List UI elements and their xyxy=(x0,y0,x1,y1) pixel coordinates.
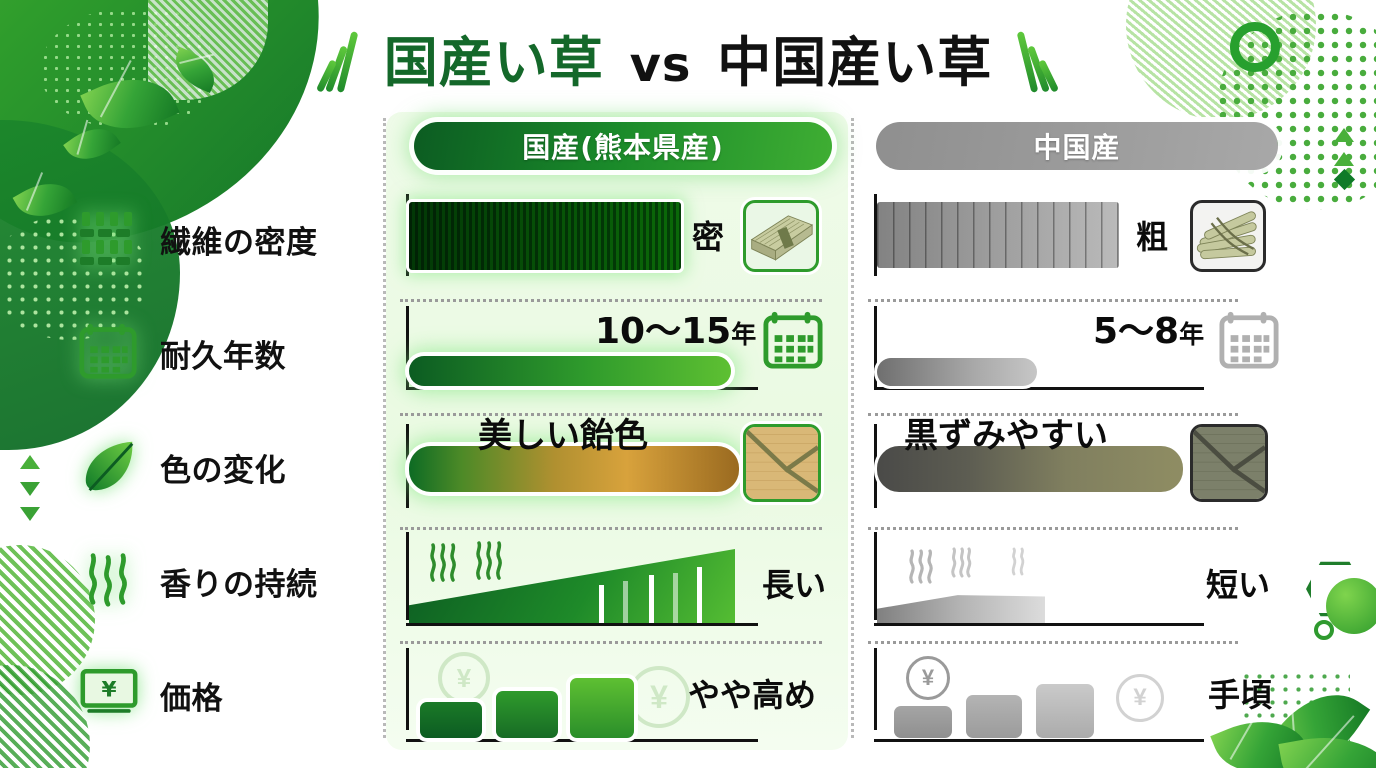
verdict-domestic: 美しい飴色 xyxy=(478,408,648,457)
loose-igusa-bundle-photo xyxy=(1190,200,1266,272)
steam-icon-china-2 xyxy=(948,546,974,578)
steam-icon-china-1 xyxy=(906,548,936,584)
svg-text:¥: ¥ xyxy=(101,678,116,703)
price-bar-china-2 xyxy=(966,695,1022,738)
row-label-fiber-density: 繊維の密度 xyxy=(78,182,378,296)
cell-domestic-fiber-density: 密 xyxy=(400,182,840,296)
title-vs: vs xyxy=(624,37,698,93)
grass-slash-icon-left xyxy=(314,21,370,93)
yen-coin-china-1: ¥ xyxy=(906,656,950,700)
durability-value-domestic: 10〜15年 xyxy=(595,302,756,354)
aroma-icon xyxy=(78,550,142,612)
column-header-china-label: 中国産 xyxy=(1033,126,1120,166)
durability-value-china: 5〜8年 xyxy=(1093,302,1204,354)
page-title: 国産い草 vs 中国産い草 xyxy=(0,18,1376,96)
verdict-domestic: 密 xyxy=(692,212,724,258)
yen-coin-domestic-2: ¥ xyxy=(628,666,690,728)
cell-china-color-change: 黒ずみやすい xyxy=(868,410,1298,524)
row-label-text: 耐久年数 xyxy=(160,331,286,376)
price-bar-domestic-1 xyxy=(420,702,482,738)
title-china: 中国産い草 xyxy=(717,31,992,94)
verdict-china: 黒ずみやすい xyxy=(904,408,1108,457)
table-row: 香りの持続 xyxy=(0,524,1376,638)
column-header-china: 中国産 xyxy=(876,122,1278,170)
title-domestic: 国産い草 xyxy=(384,31,604,94)
amber-tatami-photo xyxy=(743,424,821,502)
price-bar-china-3 xyxy=(1036,684,1094,738)
column-header-domestic: 国産(熊本県産) xyxy=(414,122,832,170)
row-label-text: 色の変化 xyxy=(160,445,286,490)
cell-china-price: ¥ ¥ 手頃 xyxy=(868,638,1298,752)
durability-value-unit: 年 xyxy=(731,320,756,349)
verdict-china: 手頃 xyxy=(1208,670,1272,716)
verdict-china: 粗 xyxy=(1136,212,1168,258)
cell-domestic-price: ¥ ¥ やや高め xyxy=(400,638,840,752)
row-label-aroma: 香りの持続 xyxy=(78,524,378,638)
price-bar-domestic-2 xyxy=(496,691,558,738)
durability-bar-china xyxy=(877,358,1037,386)
durability-value-number: 10〜15 xyxy=(595,311,731,352)
durability-bar-domestic xyxy=(409,356,731,386)
table-row: 繊維の密度 密 xyxy=(0,182,1376,296)
row-label-durability: 耐久年数 xyxy=(78,296,378,410)
steam-icon-domestic-1 xyxy=(426,542,460,582)
row-label-color-change: 色の変化 xyxy=(78,410,378,524)
row-label-text: 価格 xyxy=(160,673,223,718)
calendar-icon-china xyxy=(1218,310,1280,375)
table-row: 耐久年数 10〜15年 xyxy=(0,296,1376,410)
density-bar-china xyxy=(877,202,1119,268)
cell-domestic-color-change: 美しい飴色 xyxy=(400,410,840,524)
verdict-domestic: 長い xyxy=(762,560,826,606)
row-label-text: 香りの持続 xyxy=(160,559,318,604)
price-bar-china-1 xyxy=(894,706,952,738)
durability-value-number: 5〜8 xyxy=(1093,311,1179,352)
comparison-table: 国産(熊本県産) 中国産 xyxy=(0,104,1376,754)
calendar-icon-domestic xyxy=(762,310,824,375)
aroma-wedge-china xyxy=(877,589,1045,623)
density-bar-domestic xyxy=(409,202,681,270)
banknote-yen-icon: ¥ xyxy=(78,664,142,726)
cell-china-durability: 5〜8年 xyxy=(868,296,1298,410)
cell-china-fiber-density: 粗 xyxy=(868,182,1298,296)
calendar-icon xyxy=(78,322,142,384)
durability-value-unit: 年 xyxy=(1179,320,1204,349)
price-bar-domestic-3 xyxy=(570,678,634,738)
yen-coin-domestic-1: ¥ xyxy=(438,652,490,704)
column-header-domestic-label: 国産(熊本県産) xyxy=(522,126,724,166)
darkened-tatami-photo xyxy=(1190,424,1268,502)
verdict-domestic: やや高め xyxy=(688,670,816,716)
cell-china-aroma: 短い xyxy=(868,524,1298,638)
yen-coin-china-2: ¥ xyxy=(1116,674,1164,722)
steam-icon-china-3 xyxy=(1008,546,1030,576)
dense-igusa-bundle-photo xyxy=(743,200,819,272)
table-row: 色の変化 美しい飴色 xyxy=(0,410,1376,524)
weave-icon xyxy=(78,208,142,270)
cell-domestic-aroma: 長い xyxy=(400,524,840,638)
verdict-china: 短い xyxy=(1206,560,1270,606)
steam-icon-domestic-2 xyxy=(472,540,506,580)
grass-slash-icon-right xyxy=(1006,21,1062,93)
table-row: ¥ 価格 ¥ ¥ やや高め ¥ ¥ xyxy=(0,638,1376,752)
leaf-icon xyxy=(78,436,142,498)
row-label-price: ¥ 価格 xyxy=(78,638,378,752)
row-label-text: 繊維の密度 xyxy=(160,217,318,262)
infographic-canvas: 国産い草 vs 中国産い草 国産(熊本県産) 中国産 xyxy=(0,0,1376,768)
cell-domestic-durability: 10〜15年 xyxy=(400,296,840,410)
